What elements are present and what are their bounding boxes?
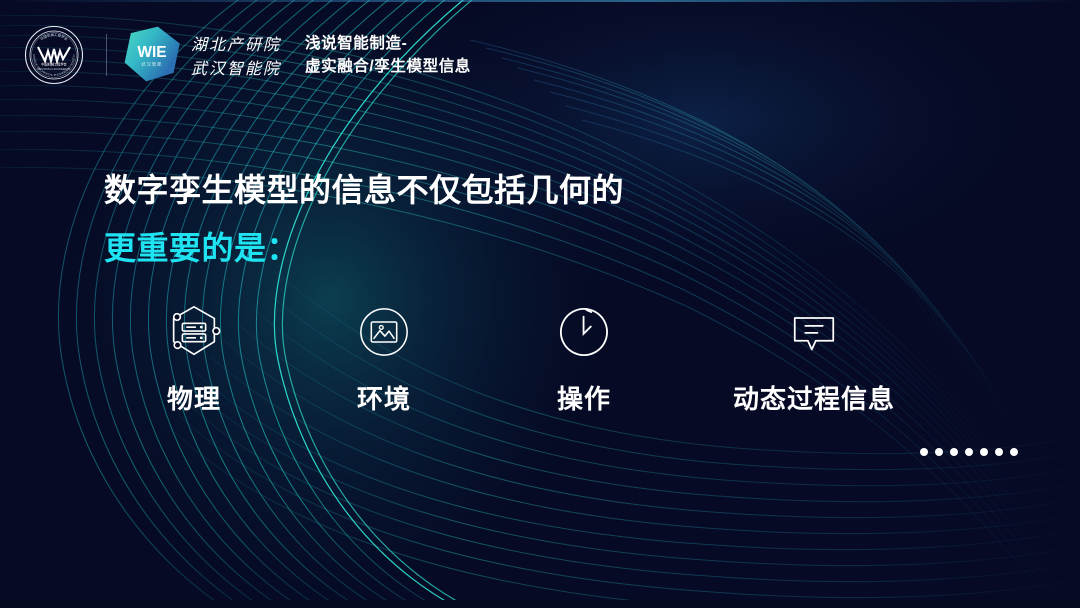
feature-row: 物理 环境 (104, 300, 964, 412)
wie-logo-text: WIE (137, 44, 166, 61)
bottom-band (0, 600, 1080, 608)
wie-logo: WIE 武汉智能 (121, 24, 183, 86)
header-title-line-1: 浅说智能制造- (305, 32, 471, 55)
header-title: 浅说智能制造- 虚实融合/孪生模型信息 (305, 32, 471, 79)
ellipsis-dot (1010, 448, 1018, 456)
feature-label-operation: 操作 (557, 386, 611, 412)
ellipsis-dots (920, 448, 1018, 456)
top-accent-line (0, 0, 1080, 2)
feature-item-physical: 物理 (104, 300, 284, 412)
hexagon-server-icon (163, 300, 225, 364)
ellipsis-dot (965, 448, 973, 456)
feature-item-environment: 环境 (284, 300, 484, 412)
institute-calligraphy-logo: 湖北产研院 武汉智能院 (189, 27, 287, 83)
header-title-line-2: 虚实融合/孪生模型信息 (305, 55, 471, 78)
feature-label-dynamic-process: 动态过程信息 (733, 386, 895, 412)
header-divider (106, 34, 107, 76)
feature-item-dynamic-process: 动态过程信息 (684, 300, 944, 412)
ellipsis-dot (935, 448, 943, 456)
circle-rotate-icon (555, 300, 613, 364)
wie-logo-subtext: 武汉智能 (141, 61, 162, 68)
ellipsis-dot (980, 448, 988, 456)
institute-name-line-2: 武汉智能院 (191, 60, 282, 78)
ellipsis-dot (950, 448, 958, 456)
circle-image-icon (355, 300, 413, 364)
feature-item-operation: 操作 (484, 300, 684, 412)
ellipsis-dot (920, 448, 928, 456)
university-seal-logo: 中国机械工程学会 MECHANICAL ENGINEERING 中国机械工程学会… (24, 25, 84, 85)
svg-text:中国机械工程学会: 中国机械工程学会 (41, 62, 67, 67)
slide-headline: 数字孪生模型的信息不仅包括几何的 更重要的是： (104, 174, 624, 264)
feature-label-physical: 物理 (167, 386, 221, 412)
ellipsis-dot (995, 448, 1003, 456)
presentation-slide: 中国机械工程学会 MECHANICAL ENGINEERING 中国机械工程学会… (0, 0, 1080, 608)
feature-label-environment: 环境 (357, 386, 411, 412)
headline-line-2: 更重要的是： (104, 232, 624, 264)
slide-header: 中国机械工程学会 MECHANICAL ENGINEERING 中国机械工程学会… (24, 22, 471, 88)
headline-line-1: 数字孪生模型的信息不仅包括几何的 (104, 174, 624, 206)
institute-name-line-1: 湖北产研院 (191, 36, 282, 54)
speech-bubble-icon (786, 300, 842, 364)
